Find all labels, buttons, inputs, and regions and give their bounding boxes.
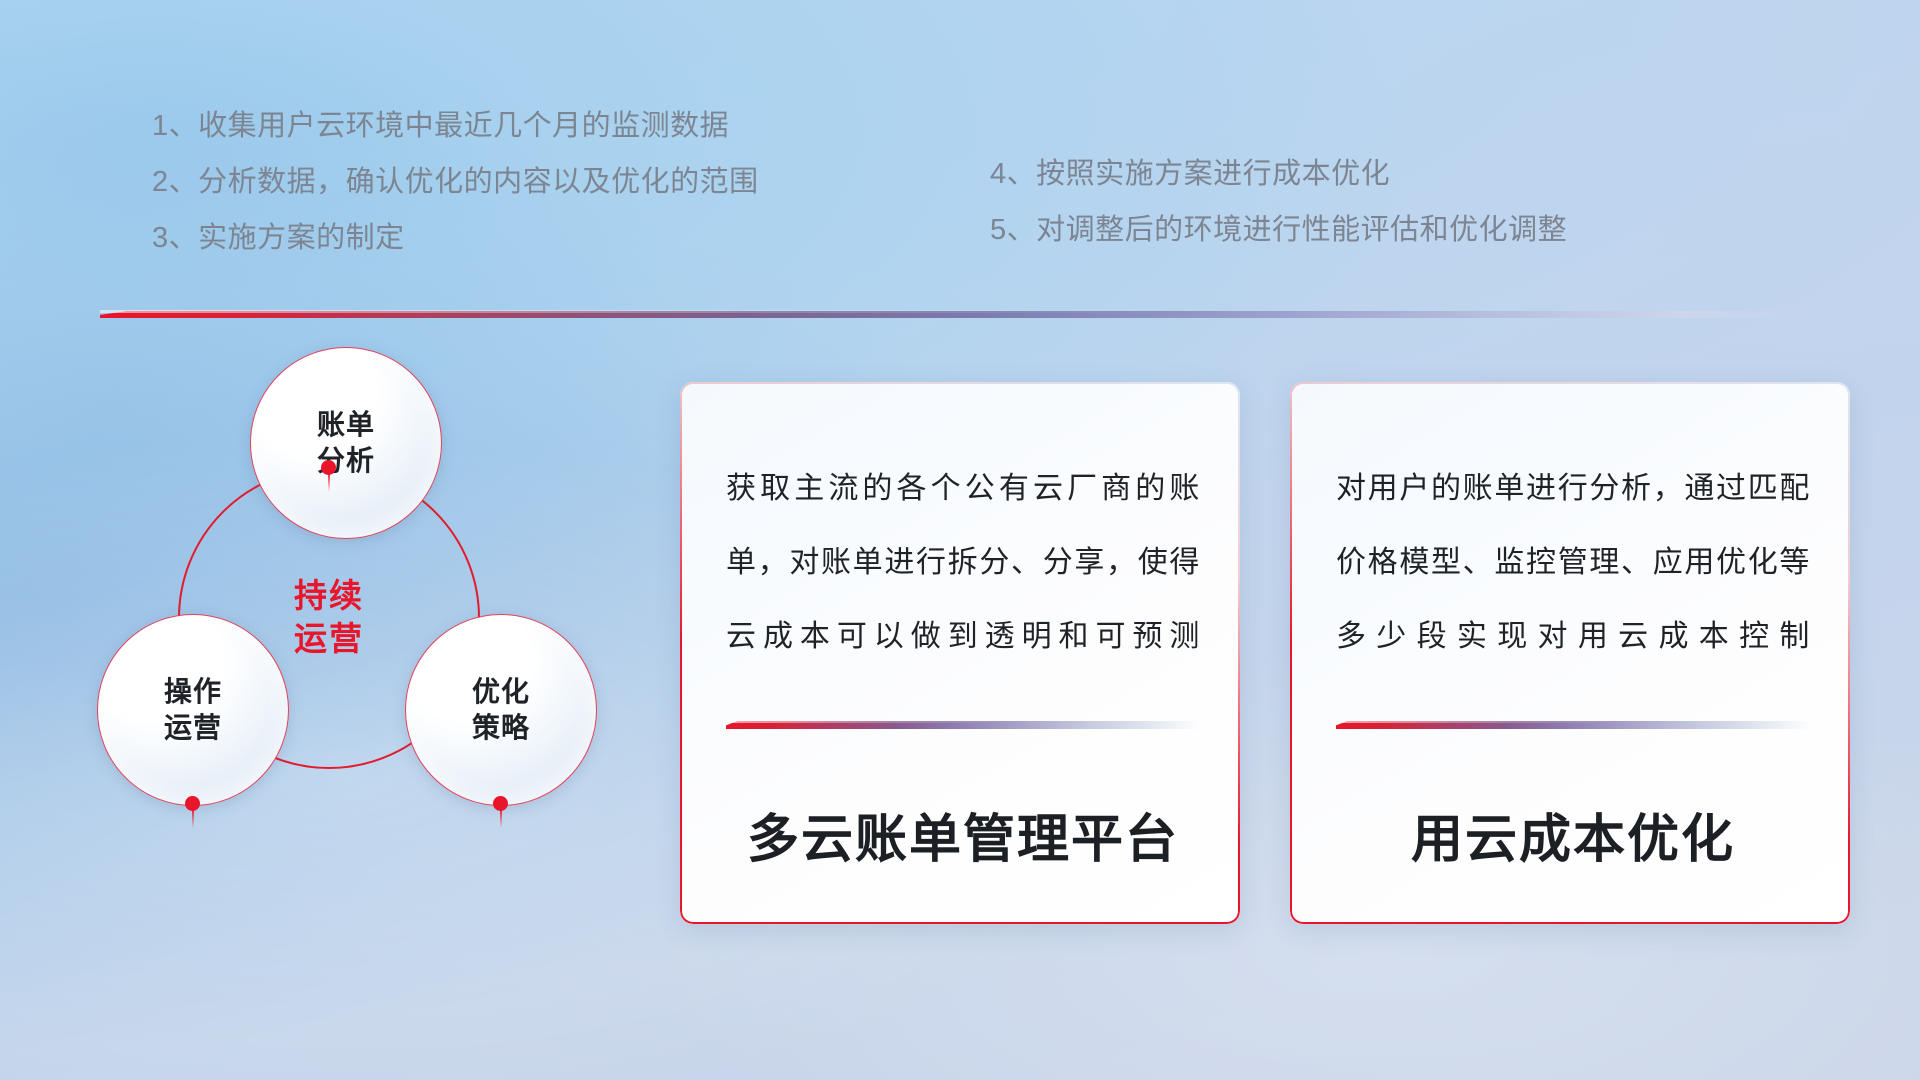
card-1-body: 获取主流的各个公有云厂商的账单，对账单进行拆分、分享，使得云成本可以做到透明和可…: [726, 452, 1200, 674]
venn-lobe-top-line1: 账单: [317, 407, 375, 443]
venn-center-line2: 运营: [294, 618, 364, 661]
process-step-5: 5、对调整后的环境进行性能评估和优化调整: [990, 202, 1567, 258]
node-dot-right-icon: [493, 796, 508, 811]
node-tail-left-icon: [192, 808, 194, 828]
process-step-4: 4、按照实施方案进行成本优化: [990, 146, 1567, 202]
venn-lobe-left-line2: 运营: [164, 710, 222, 746]
card-multicloud-billing-platform[interactable]: 获取主流的各个公有云厂商的账单，对账单进行拆分、分享，使得云成本可以做到透明和可…: [680, 382, 1240, 924]
venn-lobe-left-line1: 操作: [164, 674, 222, 710]
card-2-title: 用云成本优化: [1336, 797, 1810, 898]
card-rule-gloss: [1336, 720, 1620, 723]
card-1-title: 多云账单管理平台: [726, 797, 1200, 898]
venn-lobe-billing-analysis[interactable]: 账单 分析: [250, 347, 442, 539]
process-steps-list: 1、收集用户云环境中最近几个月的监测数据 2、分析数据，确认优化的内容以及优化的…: [0, 98, 1920, 288]
card-content: 对用户的账单进行分析，通过匹配价格模型、监控管理、应用优化等多少段实现对用云成本…: [1336, 452, 1810, 898]
node-tail-right-icon: [500, 808, 502, 828]
card-cloud-cost-optimization[interactable]: 对用户的账单进行分析，通过匹配价格模型、监控管理、应用优化等多少段实现对用云成本…: [1290, 382, 1850, 924]
process-step-1: 1、收集用户云环境中最近几个月的监测数据: [152, 98, 759, 154]
card-rule-gloss: [726, 720, 1010, 723]
venn-lobe-right-line1: 优化: [472, 674, 530, 710]
continuous-operation-venn-diagram: 账单 分析 操作 运营 优化 策略 持续 运营: [100, 352, 660, 952]
card-2-body: 对用户的账单进行分析，通过匹配价格模型、监控管理、应用优化等多少段实现对用云成本…: [1336, 452, 1810, 674]
section-divider: [100, 310, 1820, 319]
process-steps-right-column: 4、按照实施方案进行成本优化 5、对调整后的环境进行性能评估和优化调整: [990, 146, 1567, 258]
divider-gloss: [100, 310, 1166, 313]
process-step-2: 2、分析数据，确认优化的内容以及优化的范围: [152, 154, 759, 210]
venn-center-line1: 持续: [294, 575, 364, 618]
venn-lobe-right-line2: 策略: [472, 710, 530, 746]
venn-lobe-operations[interactable]: 操作 运营: [97, 614, 289, 806]
node-dot-left-icon: [185, 796, 200, 811]
node-dot-top-icon: [321, 460, 336, 475]
card-content: 获取主流的各个公有云厂商的账单，对账单进行拆分、分享，使得云成本可以做到透明和可…: [726, 452, 1200, 898]
process-step-3: 3、实施方案的制定: [152, 210, 759, 266]
card-2-rule: [1336, 720, 1810, 729]
node-tail-top-icon: [328, 472, 330, 492]
venn-lobe-optimization-strategy[interactable]: 优化 策略: [405, 614, 597, 806]
process-steps-left-column: 1、收集用户云环境中最近几个月的监测数据 2、分析数据，确认优化的内容以及优化的…: [152, 98, 759, 266]
card-1-rule: [726, 720, 1200, 729]
